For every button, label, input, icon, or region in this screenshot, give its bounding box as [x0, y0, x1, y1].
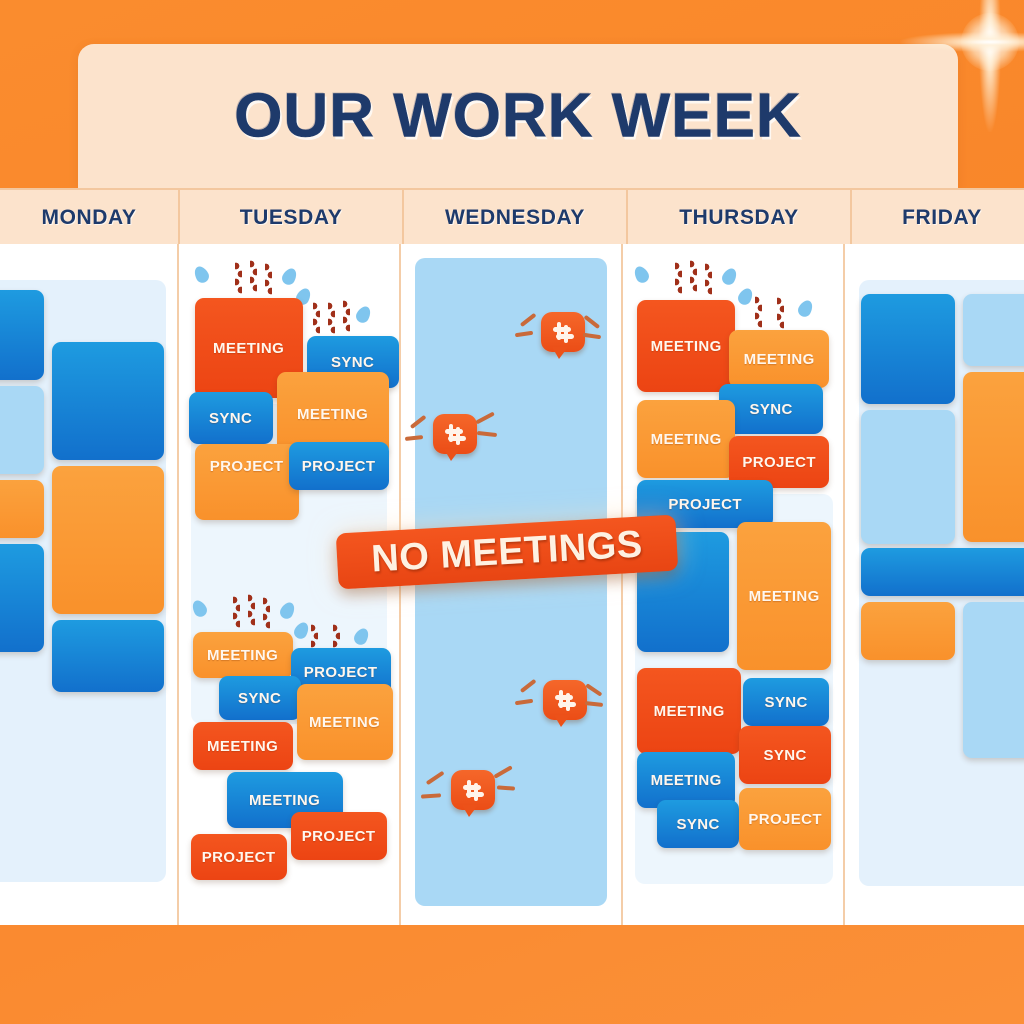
thursday-block-meeting-1[interactable]: MEETING: [637, 300, 735, 392]
sweat-drop-icon: [353, 304, 372, 325]
monday-block-1[interactable]: [0, 290, 44, 380]
tuesday-block-project-1[interactable]: PROJECT: [195, 444, 299, 520]
tuesday-block-meeting-3[interactable]: MEETING: [193, 632, 293, 678]
friday-block-5[interactable]: [861, 548, 1024, 596]
monday-block-6[interactable]: [52, 466, 164, 614]
tuesday-block-sync-3[interactable]: SYNC: [219, 676, 301, 720]
thursday-block-sync-3[interactable]: SYNC: [739, 726, 831, 784]
thursday-block-meeting-4[interactable]: MEETING: [737, 522, 831, 670]
sweat-drop-icon: [736, 286, 755, 307]
tuesday-block-meeting-5[interactable]: MEETING: [193, 722, 293, 770]
work-week-poster: OUR WORK WEEK MONDAY TUESDAY WEDNESDAY T…: [0, 0, 1024, 1024]
sweat-drop-icon: [720, 266, 739, 287]
friday-block-2[interactable]: [963, 294, 1024, 366]
monday-block-3[interactable]: [0, 480, 44, 538]
monday-block-4[interactable]: [0, 544, 44, 652]
tuesday-block-project-4[interactable]: PROJECT: [291, 812, 387, 860]
page-title: OUR WORK WEEK: [78, 81, 958, 152]
sweat-drop-icon: [191, 264, 210, 285]
tuesday-block-meeting-4[interactable]: MEETING: [297, 684, 393, 760]
day-header-tuesday[interactable]: TUESDAY: [180, 190, 404, 246]
friday-block-7[interactable]: [963, 602, 1024, 758]
thursday-block-meeting-2[interactable]: MEETING: [729, 330, 829, 388]
title-card: OUR WORK WEEK: [78, 44, 958, 188]
day-header-monday[interactable]: MONDAY: [0, 190, 180, 246]
friday-block-6[interactable]: [861, 602, 955, 660]
tuesday-block-project-5[interactable]: PROJECT: [191, 834, 287, 880]
thursday-block-sync-4[interactable]: SYNC: [657, 800, 739, 848]
day-column-monday[interactable]: [0, 244, 179, 925]
sweat-drop-icon: [632, 264, 651, 285]
tuesday-block-project-2[interactable]: PROJECT: [289, 442, 389, 490]
no-meetings-label: NO MEETINGS: [370, 523, 644, 581]
friday-block-3[interactable]: [861, 410, 955, 544]
monday-block-2[interactable]: [0, 386, 44, 474]
day-header-thursday[interactable]: THURSDAY: [628, 190, 852, 246]
thursday-block-meeting-3[interactable]: MEETING: [637, 400, 735, 478]
day-header-friday[interactable]: FRIDAY: [852, 190, 1024, 246]
friday-block-4[interactable]: [963, 372, 1024, 542]
sweat-drop-icon: [796, 298, 815, 319]
day-column-thursday[interactable]: MEETING MEETING SYNC MEETING PROJECT PRO…: [623, 244, 845, 925]
thursday-block-sync-2[interactable]: SYNC: [743, 678, 829, 726]
monday-block-7[interactable]: [52, 620, 164, 692]
day-column-friday[interactable]: [845, 244, 1024, 925]
day-column-wednesday[interactable]: [401, 244, 623, 925]
tuesday-block-sync-2[interactable]: SYNC: [189, 392, 273, 444]
friday-block-1[interactable]: [861, 294, 955, 404]
thursday-block-meeting-5[interactable]: MEETING: [637, 668, 741, 754]
day-header-row: MONDAY TUESDAY WEDNESDAY THURSDAY FRIDAY: [0, 188, 1024, 248]
sparkle-core: [961, 13, 1019, 71]
monday-block-5[interactable]: [52, 342, 164, 460]
day-header-wednesday[interactable]: WEDNESDAY: [404, 190, 628, 246]
thursday-block-project-3[interactable]: PROJECT: [739, 788, 831, 850]
calendar-grid: MEETING SYNC SYNC MEETING PROJECT PROJEC…: [0, 244, 1024, 925]
sweat-drop-icon: [279, 266, 298, 287]
